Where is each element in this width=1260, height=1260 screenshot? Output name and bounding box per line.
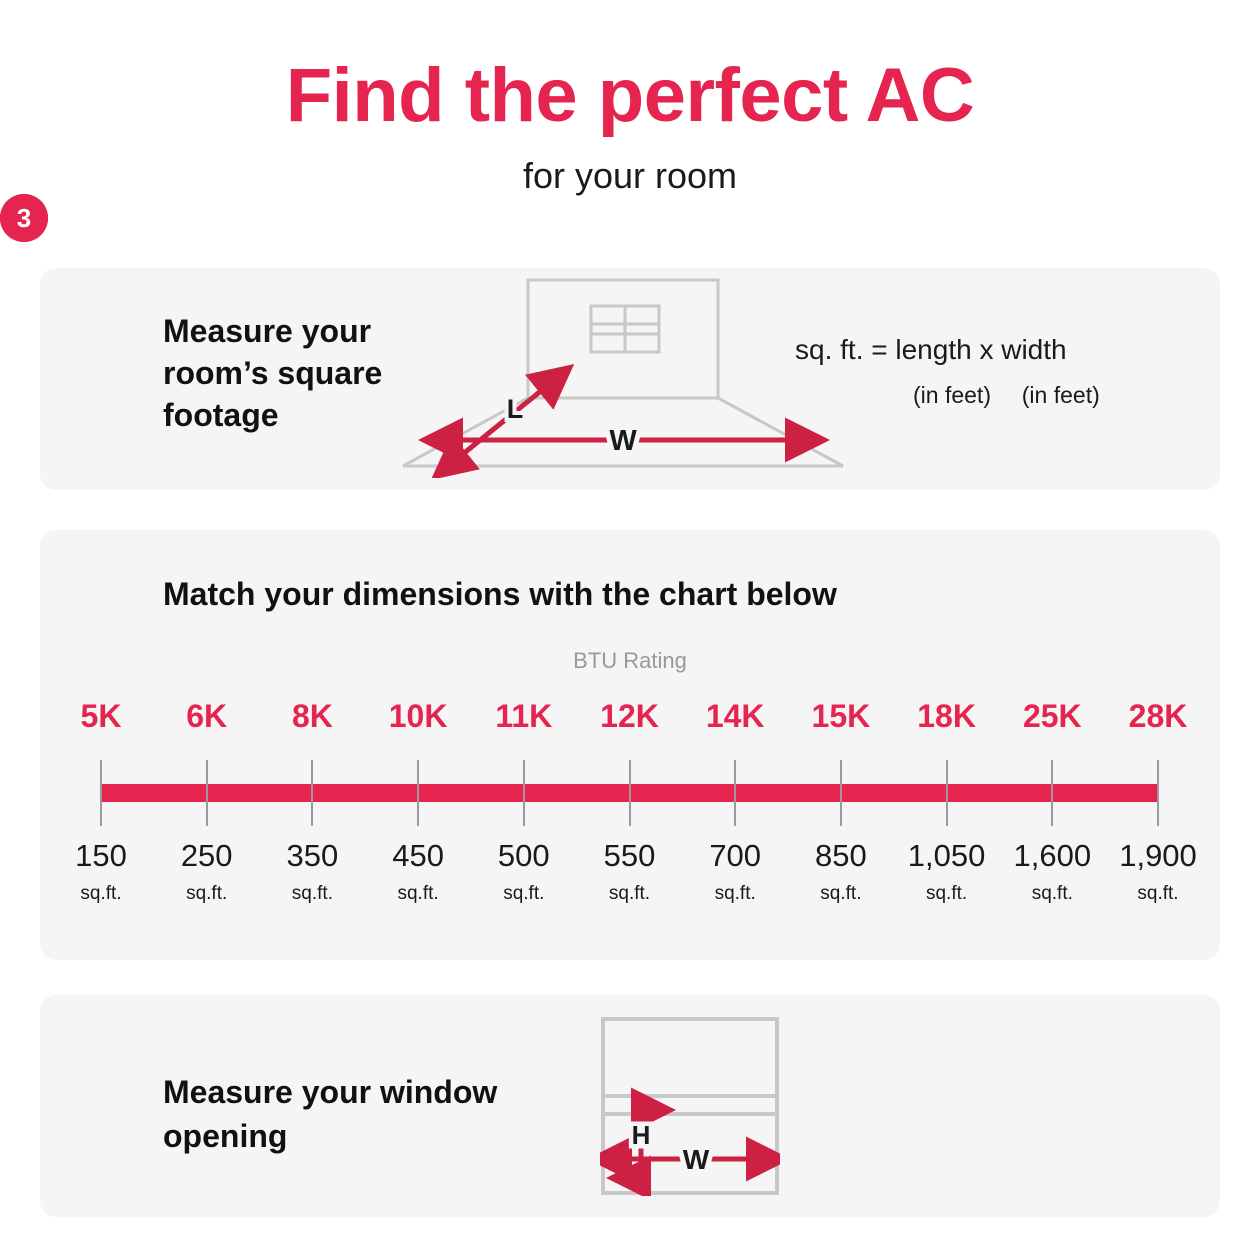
btu-rating-label: 14K [706,700,765,732]
sqft-value: 700 [709,840,761,871]
btu-tick [946,760,948,826]
sqft-value: 450 [392,840,444,871]
sqft-value: 1,600 [1014,840,1092,871]
formula-note-length: (in feet) [913,384,991,407]
btu-tick [417,760,419,826]
sqft-value: 550 [604,840,656,871]
sqft-entry: 550sq.ft. [604,840,656,903]
sqft-unit: sq.ft. [1119,884,1197,903]
sqft-value: 1,900 [1119,840,1197,871]
sqft-unit: sq.ft. [1014,884,1092,903]
btu-tick [629,760,631,826]
square-footage-formula: sq. ft. = length x width (in feet) (in f… [795,336,1185,407]
sqft-entry: 1,900sq.ft. [1119,840,1197,903]
page-subtitle: for your room [0,158,1260,194]
sqft-value: 1,050 [908,840,986,871]
btu-tick [734,760,736,826]
sqft-unit: sq.ft. [181,884,233,903]
formula-units: (in feet) (in feet) [795,384,1185,407]
btu-tick [840,760,842,826]
sqft-entry: 150sq.ft. [75,840,127,903]
sqft-unit: sq.ft. [75,884,127,903]
sqft-entry: 1,600sq.ft. [1014,840,1092,903]
sqft-value: 150 [75,840,127,871]
btu-rating-label: 5K [81,700,122,732]
sqft-value: 850 [815,840,867,871]
btu-rating-label: 15K [812,700,871,732]
page-title: Find the perfect AC [0,58,1260,134]
sqft-unit: sq.ft. [498,884,550,903]
sqft-unit: sq.ft. [908,884,986,903]
btu-tick [1051,760,1053,826]
sqft-entry: 450sq.ft. [392,840,444,903]
btu-rating-label: 10K [389,700,448,732]
btu-scale-chart: 5K6K8K10K11K12K14K15K18K25K28K 150sq.ft.… [40,700,1220,930]
btu-rating-label: 8K [292,700,333,732]
sqft-value: 350 [287,840,339,871]
sqft-value: 250 [181,840,233,871]
window-height-label: H [632,1120,651,1150]
step-3-heading: Measure your window opening [163,1070,523,1158]
sqft-unit: sq.ft. [392,884,444,903]
window-width-label: W [683,1144,710,1175]
btu-rating-label: 12K [600,700,659,732]
formula-equation: sq. ft. = length x width [795,336,1185,364]
formula-note-width: (in feet) [1022,384,1100,407]
btu-rating-label: 11K [495,700,552,732]
sqft-entry: 1,050sq.ft. [908,840,986,903]
sqft-entry: 250sq.ft. [181,840,233,903]
sqft-value: 500 [498,840,550,871]
room-width-label: W [609,425,637,457]
btu-tick [1157,760,1159,826]
btu-rating-label: 18K [917,700,976,732]
step-badge-3: 3 [0,194,48,242]
page-header: Find the perfect AC for your room [0,0,1260,194]
sqft-entry: 500sq.ft. [498,840,550,903]
sqft-unit: sq.ft. [287,884,339,903]
btu-rating-caption: BTU Rating [0,650,1260,672]
btu-tick [311,760,313,826]
step-2-heading: Match your dimensions with the chart bel… [163,578,837,610]
window-opening-diagram: H H W W [600,1016,780,1196]
sqft-unit: sq.ft. [709,884,761,903]
btu-rating-label: 28K [1129,700,1188,732]
room-length-label: L [507,394,524,424]
sqft-entry: 850sq.ft. [815,840,867,903]
btu-tick [206,760,208,826]
btu-rating-label: 25K [1023,700,1082,732]
sqft-entry: 350sq.ft. [287,840,339,903]
btu-tick [100,760,102,826]
sqft-unit: sq.ft. [815,884,867,903]
sqft-unit: sq.ft. [604,884,656,903]
room-perspective-diagram: L L W W [395,278,845,478]
btu-rating-label: 6K [186,700,227,732]
btu-tick [523,760,525,826]
sqft-entry: 700sq.ft. [709,840,761,903]
